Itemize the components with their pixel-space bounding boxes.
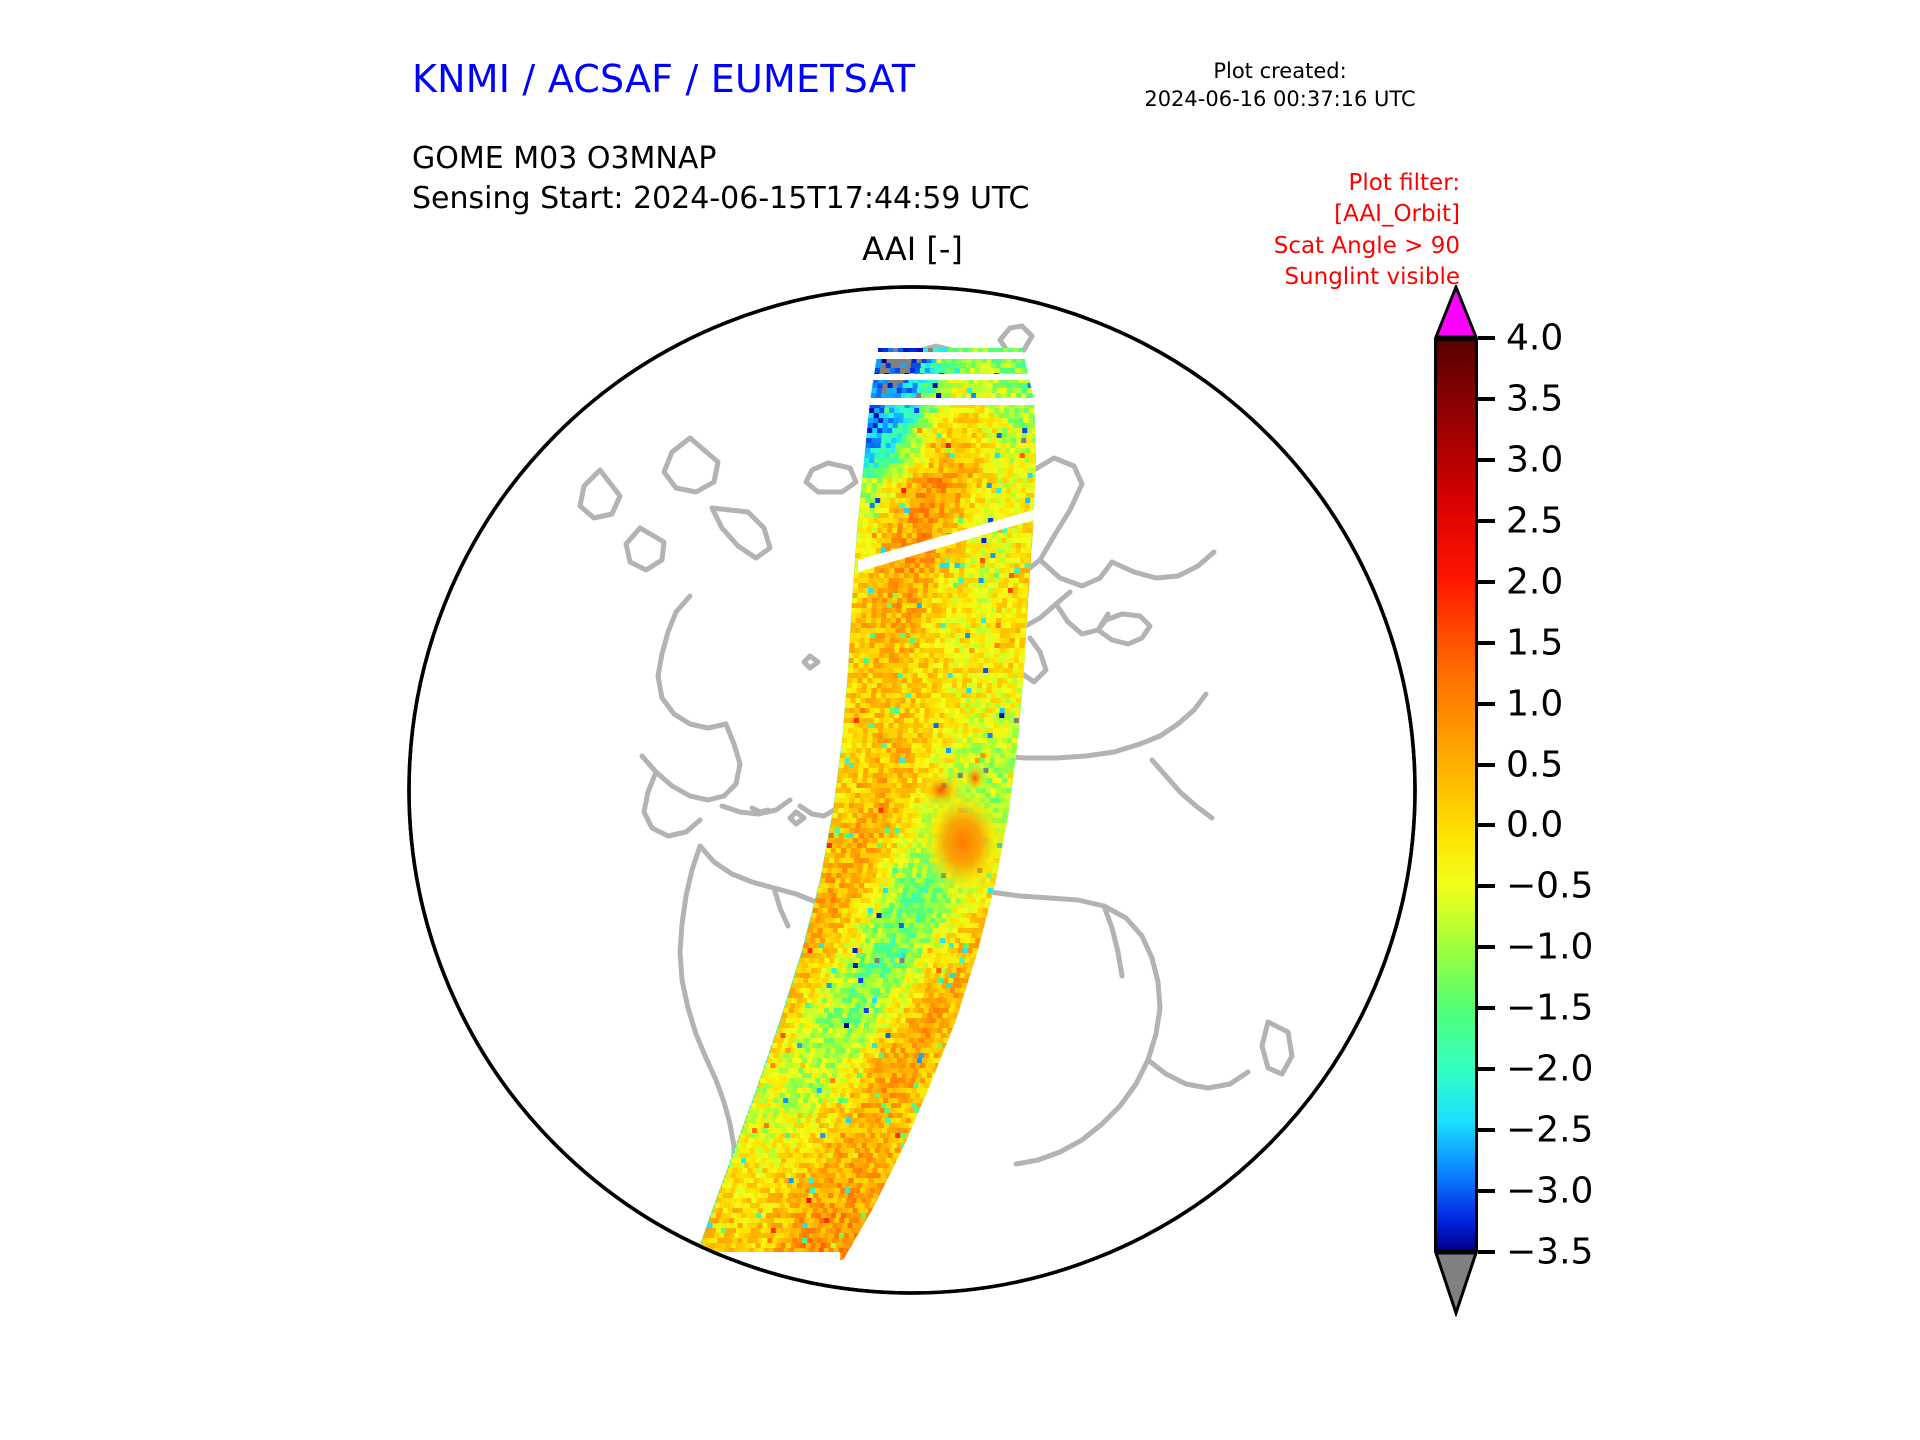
colorbar-tick-label: −0.5 (1506, 866, 1593, 907)
colorbar-tick-label: −3.5 (1506, 1232, 1593, 1273)
colorbar-tick-mark (1478, 1006, 1495, 1010)
colorbar-tick-mark (1478, 884, 1495, 888)
colorbar: 4.03.53.02.52.01.51.00.50.0−0.5−1.0−1.5−… (1434, 285, 1714, 1300)
colorbar-tick-label: 1.5 (1506, 622, 1563, 663)
colorbar-tick-label: 2.5 (1506, 500, 1563, 541)
colorbar-tick-mark (1478, 1128, 1495, 1132)
colorbar-tick-label: −2.0 (1506, 1049, 1593, 1090)
colorbar-tick-mark (1478, 945, 1495, 949)
colorbar-tick-label: −1.0 (1506, 927, 1593, 968)
colorbar-tick-label: 3.5 (1506, 378, 1563, 419)
colorbar-tick-mark (1478, 458, 1495, 462)
plot-page: KNMI / ACSAF / EUMETSAT GOME M03 O3MNAP … (0, 0, 1920, 1440)
colorbar-tick-mark (1478, 336, 1495, 340)
colorbar-tick-mark (1478, 763, 1495, 767)
colorbar-tick-label: −2.5 (1506, 1110, 1593, 1151)
colorbar-tick-label: 4.0 (1506, 318, 1563, 359)
colorbar-tick-label: 2.0 (1506, 561, 1563, 602)
swath-data-gap (860, 352, 1040, 359)
colorbar-tick-mark (1478, 1067, 1495, 1071)
swath-data-gap (850, 374, 1040, 380)
colorbar-tick-label: −3.0 (1506, 1171, 1593, 1212)
colorbar-tick-mark (1478, 580, 1495, 584)
sunglint-secondary (917, 770, 965, 810)
colorbar-tick-mark (1478, 397, 1495, 401)
colorbar-tick-mark (1478, 641, 1495, 645)
sunglint-tertiary (963, 762, 987, 794)
colorbar-over-arrow (1434, 285, 1478, 339)
colorbar-tick-label: 0.5 (1506, 744, 1563, 785)
colorbar-tick-mark (1478, 1189, 1495, 1193)
colorbar-tick-mark (1478, 1250, 1495, 1254)
colorbar-tick-label: 3.0 (1506, 439, 1563, 480)
colorbar-tick-label: −1.5 (1506, 988, 1593, 1029)
colorbar-gradient (1434, 338, 1478, 1252)
colorbar-under-arrow (1434, 1251, 1478, 1317)
colorbar-tick-label: 0.0 (1506, 805, 1563, 846)
colorbar-tick-mark (1478, 519, 1495, 523)
colorbar-tick-mark (1478, 823, 1495, 827)
colorbar-tick-mark (1478, 702, 1495, 706)
colorbar-tick-label: 1.0 (1506, 683, 1563, 724)
